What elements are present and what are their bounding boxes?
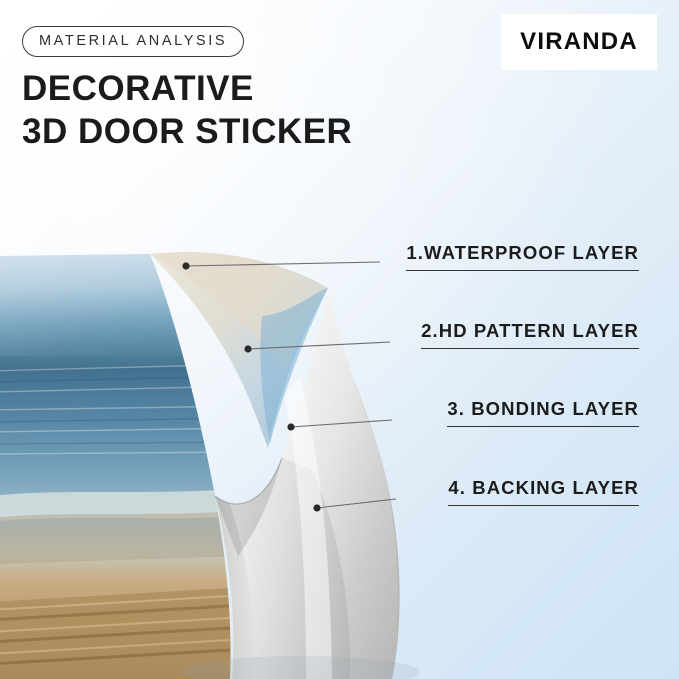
callout-label-bonding: 3. BONDING LAYER [447, 398, 639, 427]
page-title: DECORATIVE 3D DOOR STICKER [22, 68, 352, 153]
callout-label-waterproof: 1.WATERPROOF LAYER [406, 242, 639, 271]
callout-label-backing: 4. BACKING LAYER [448, 477, 639, 506]
title-line-1: DECORATIVE [22, 68, 352, 111]
callout-label-hd-pattern: 2.HD PATTERN LAYER [421, 320, 639, 349]
brand-name: VIRANDA [520, 28, 638, 56]
sticker-peel-illustration [0, 196, 470, 679]
poster-canvas: MATERIAL ANALYSIS DECORATIVE 3D DOOR STI… [0, 0, 679, 679]
eyebrow-badge: MATERIAL ANALYSIS [22, 26, 244, 57]
title-line-2: 3D DOOR STICKER [22, 111, 352, 154]
brand-logo-box: VIRANDA [501, 14, 657, 70]
